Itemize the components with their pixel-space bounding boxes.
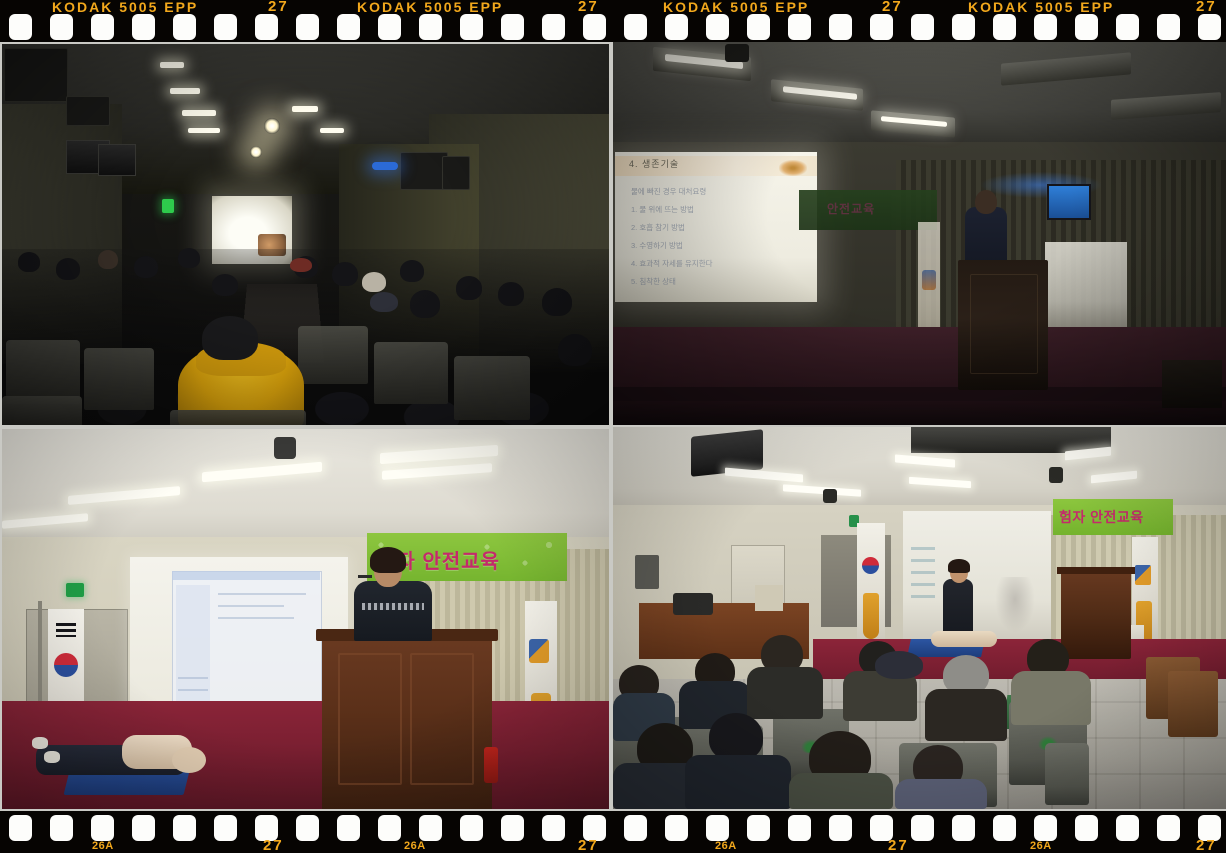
sprocket-hole	[1116, 815, 1139, 841]
sprocket-hole	[132, 815, 155, 841]
photo-top-right[interactable]: 4. 생존기술 물에 빠진 경우 대처요령 1. 물 위에 뜨는 방법 2. 호…	[613, 42, 1226, 425]
stage-platform	[613, 327, 1226, 425]
audience-head	[332, 262, 358, 286]
wall-speaker-icon	[66, 96, 110, 126]
chair	[374, 342, 448, 404]
stage-edge	[613, 387, 1226, 401]
slide-bullet: 1. 물 위에 뜨는 방법	[631, 204, 694, 215]
sprocket-hole	[255, 14, 278, 40]
audience-head	[56, 258, 80, 280]
sprocket-hole	[788, 14, 811, 40]
projected-text-line	[178, 677, 208, 679]
projected-text-line	[218, 605, 284, 607]
flag-emblem	[922, 270, 936, 290]
exit-sign-icon	[66, 583, 84, 597]
cpr-manikin-foot	[44, 751, 60, 763]
audience-cap	[370, 292, 398, 312]
spotlight-icon	[1049, 467, 1063, 483]
audience-cap	[875, 651, 923, 679]
scene-audience-cpr-demo: 험자 안전교육	[613, 427, 1226, 809]
flag-taeguk-circle	[54, 653, 78, 677]
wall-speaker-icon	[4, 48, 68, 102]
chair	[84, 348, 154, 410]
chair	[1162, 360, 1222, 408]
instructor-hair	[948, 559, 970, 573]
sprocket-hole	[952, 14, 975, 40]
microphone-icon	[358, 575, 372, 578]
sprocket-hole-row-top	[0, 14, 1226, 40]
projected-text-line	[911, 559, 935, 562]
audience-head	[178, 248, 200, 268]
audience-body	[789, 773, 893, 809]
projected-text-line	[178, 689, 208, 691]
sprocket-hole	[419, 815, 442, 841]
potted-plant	[845, 583, 899, 627]
sprocket-hole	[501, 815, 524, 841]
audience-head	[400, 260, 424, 282]
podium	[958, 260, 1048, 390]
film-frame-number: 27	[578, 839, 599, 853]
sprocket-hole	[50, 815, 73, 841]
projector-icon	[725, 44, 749, 62]
audience-body	[1011, 671, 1091, 725]
film-half-frame-number: 26A	[92, 839, 114, 853]
sprocket-hole	[501, 14, 524, 40]
sprocket-hole	[1116, 14, 1139, 40]
instructor-hair	[370, 547, 406, 573]
audience-head	[98, 250, 118, 269]
audience-head	[410, 290, 440, 318]
film-brand-text: KODAK 5005 EPP	[357, 0, 503, 14]
sprocket-hole	[419, 14, 442, 40]
sprocket-hole	[9, 815, 32, 841]
sprocket-hole	[173, 14, 196, 40]
film-frame-number: 27	[888, 839, 909, 853]
sprocket-hole	[91, 815, 114, 841]
ceiling-light	[320, 128, 344, 133]
sprocket-hole	[788, 815, 811, 841]
monitor-icon	[98, 144, 136, 176]
sprocket-hole	[1157, 14, 1180, 40]
audience-body	[925, 689, 1007, 741]
scene-speaker-at-podium: 4. 생존기술 물에 빠진 경우 대처요령 1. 물 위에 뜨는 방법 2. 호…	[613, 42, 1226, 425]
sprocket-hole	[50, 14, 73, 40]
sprocket-hole	[337, 815, 360, 841]
instructor-body	[354, 581, 432, 641]
projected-window-sidebar	[176, 585, 210, 705]
cpr-manikin	[931, 631, 997, 647]
sprocket-hole	[9, 14, 32, 40]
chair	[298, 326, 368, 384]
sprocket-hole	[706, 815, 729, 841]
film-frame-number: 27	[1196, 0, 1217, 14]
audience-head	[542, 288, 572, 316]
blue-accent-light	[372, 162, 398, 170]
wall-banner: 험자 안전교육	[1053, 499, 1173, 535]
podium-panel	[338, 653, 402, 785]
sprocket-hole	[296, 815, 319, 841]
film-frame-number: 27	[1196, 839, 1217, 853]
projected-window-titlebar	[172, 571, 320, 580]
uniform-stripe	[362, 603, 424, 610]
slide-bullet: 3. 수영하기 방법	[631, 240, 683, 251]
podium-top	[1057, 567, 1135, 574]
audience-body	[685, 755, 791, 809]
photo-grid: 4. 생존기술 물에 빠진 경우 대처요령 1. 물 위에 뜨는 방법 2. 호…	[0, 42, 1226, 811]
photo-bottom-right[interactable]: 험자 안전교육	[613, 427, 1226, 809]
projection-screen	[903, 511, 1051, 639]
chair	[170, 410, 306, 425]
projection-screen: 4. 생존기술 물에 빠진 경우 대처요령 1. 물 위에 뜨는 방법 2. 호…	[615, 152, 817, 302]
scene-auditorium-audience	[2, 44, 609, 425]
ceiling-light	[170, 88, 200, 94]
banner-text: 험자 안전교육	[1059, 507, 1144, 527]
exit-sign-icon	[162, 199, 174, 213]
film-strip-top: KODAK 5005 EPP27KODAK 5005 EPP27KODAK 50…	[0, 0, 1226, 42]
sprocket-hole	[911, 14, 934, 40]
sprocket-hole	[337, 14, 360, 40]
flag-trigram	[56, 623, 76, 637]
sprocket-hole	[91, 14, 114, 40]
slide-bullet: 물에 빠진 경우 대처요령	[631, 186, 706, 197]
banner-text: 안전교육	[827, 200, 875, 217]
chair	[6, 340, 80, 404]
sprocket-hole	[665, 815, 688, 841]
slide-title: 4. 생존기술	[629, 157, 679, 170]
slide-decoration-icon	[779, 160, 807, 176]
film-frame-number: 27	[268, 0, 289, 14]
film-half-frame-number: 26A	[1030, 839, 1052, 853]
sprocket-hole	[829, 815, 852, 841]
sprocket-hole	[624, 815, 647, 841]
audience-head	[18, 252, 40, 272]
sprocket-hole	[1034, 815, 1057, 841]
projector-icon	[274, 437, 296, 459]
chair	[2, 396, 82, 425]
projected-text-line	[911, 547, 935, 550]
sprocket-hole	[993, 14, 1016, 40]
sprocket-hole	[1075, 14, 1098, 40]
podium-panel	[970, 274, 1038, 374]
audience-head	[558, 334, 592, 366]
flag-emblem	[529, 639, 549, 663]
photo-top-left[interactable]	[2, 44, 609, 425]
slide-bullet: 5. 침착한 상태	[631, 276, 676, 287]
film-frame-number: 27	[578, 0, 599, 14]
ceiling-bulb	[264, 118, 280, 134]
sprocket-hole	[460, 14, 483, 40]
photo-bottom-left[interactable]: 험자 안전교육	[2, 429, 609, 809]
sprocket-hole	[542, 14, 565, 40]
audience-cap	[290, 258, 312, 272]
sprocket-hole	[296, 14, 319, 40]
speaker-head	[975, 190, 997, 214]
film-half-frame-number: 26A	[404, 839, 426, 853]
wall-banner: 안전교육	[799, 190, 937, 230]
ceiling-bulb	[250, 146, 262, 158]
sprocket-hole	[706, 14, 729, 40]
sprocket-hole	[1075, 815, 1098, 841]
wall-speaker-icon	[442, 156, 470, 190]
ceiling-light	[160, 62, 184, 68]
film-edge-text-row-bottom: 26A2726A2726A2726A27	[0, 839, 1226, 853]
wall-speaker-icon	[635, 555, 659, 589]
projected-text-line	[911, 571, 935, 574]
scene-instructor-podium-manikin: 험자 안전교육	[2, 429, 609, 809]
paper-stack	[755, 585, 783, 611]
audience-cap	[709, 713, 763, 761]
ceiling-light	[182, 110, 216, 116]
film-frame-number: 27	[263, 839, 284, 853]
projected-text-line	[911, 595, 935, 598]
film-half-frame-number: 26A	[715, 839, 737, 853]
sprocket-hole	[911, 815, 934, 841]
projected-text-line	[218, 617, 294, 619]
sprocket-hole	[173, 815, 196, 841]
film-brand-text: KODAK 5005 EPP	[663, 0, 809, 14]
slide-bullet: 2. 호흡 참기 방법	[631, 222, 685, 233]
chair	[454, 356, 530, 420]
audience-beanie-hat	[202, 316, 258, 360]
wall-tv-monitor	[1047, 184, 1091, 220]
wall-speaker-icon	[400, 152, 448, 190]
sprocket-hole	[460, 815, 483, 841]
film-brand-text: KODAK 5005 EPP	[52, 0, 198, 14]
flag-taeguk-circle	[862, 557, 879, 574]
audience-body	[747, 667, 823, 719]
film-collage-canvas: KODAK 5005 EPP27KODAK 5005 EPP27KODAK 50…	[0, 0, 1226, 853]
audience-head	[212, 274, 238, 296]
spotlight-icon	[823, 489, 837, 503]
sprocket-hole	[378, 14, 401, 40]
sprocket-hole	[1034, 14, 1057, 40]
sprocket-hole	[1198, 14, 1221, 40]
sprocket-hole	[132, 14, 155, 40]
audience-head	[134, 256, 158, 278]
sprocket-hole	[214, 815, 237, 841]
audience-body	[895, 779, 987, 809]
sprocket-hole	[993, 815, 1016, 841]
sprocket-hole	[542, 815, 565, 841]
audience-head	[498, 282, 524, 306]
sprocket-hole	[829, 14, 852, 40]
flag-emblem	[1135, 565, 1151, 585]
sprocket-hole	[624, 14, 647, 40]
sprocket-hole	[665, 14, 688, 40]
sprocket-hole	[1157, 815, 1180, 841]
whiteboard	[1045, 242, 1127, 327]
film-brand-text: KODAK 5005 EPP	[968, 0, 1114, 14]
podium-panel	[410, 653, 474, 785]
sprocket-hole-row-bottom	[0, 815, 1226, 841]
sprocket-hole	[747, 815, 770, 841]
podium	[322, 629, 492, 809]
ceiling	[2, 429, 609, 549]
audience-head	[456, 276, 482, 300]
cpr-manikin-foot	[32, 737, 48, 749]
slide-bullet: 4. 효과적 자세를 유지한다	[631, 258, 713, 269]
sprocket-hole	[747, 14, 770, 40]
podium	[1061, 567, 1131, 659]
sprocket-hole	[952, 815, 975, 841]
projected-shadow	[995, 577, 1035, 633]
sprocket-hole	[378, 815, 401, 841]
film-strip-bottom: 26A2726A2726A2726A27	[0, 811, 1226, 853]
equipment-box	[673, 593, 713, 615]
ceiling-light	[188, 128, 220, 133]
wooden-chair	[1168, 671, 1218, 737]
audience-cap	[362, 272, 386, 292]
fire-extinguisher-icon	[484, 747, 498, 783]
ceiling-light	[292, 106, 318, 112]
projected-text-line	[911, 583, 935, 586]
sprocket-hole	[870, 14, 893, 40]
sprocket-hole	[583, 14, 606, 40]
projected-text-line	[218, 593, 306, 595]
chair	[1045, 743, 1089, 805]
cpr-manikin-head	[172, 747, 206, 773]
film-frame-number: 27	[882, 0, 903, 14]
sprocket-hole	[214, 14, 237, 40]
